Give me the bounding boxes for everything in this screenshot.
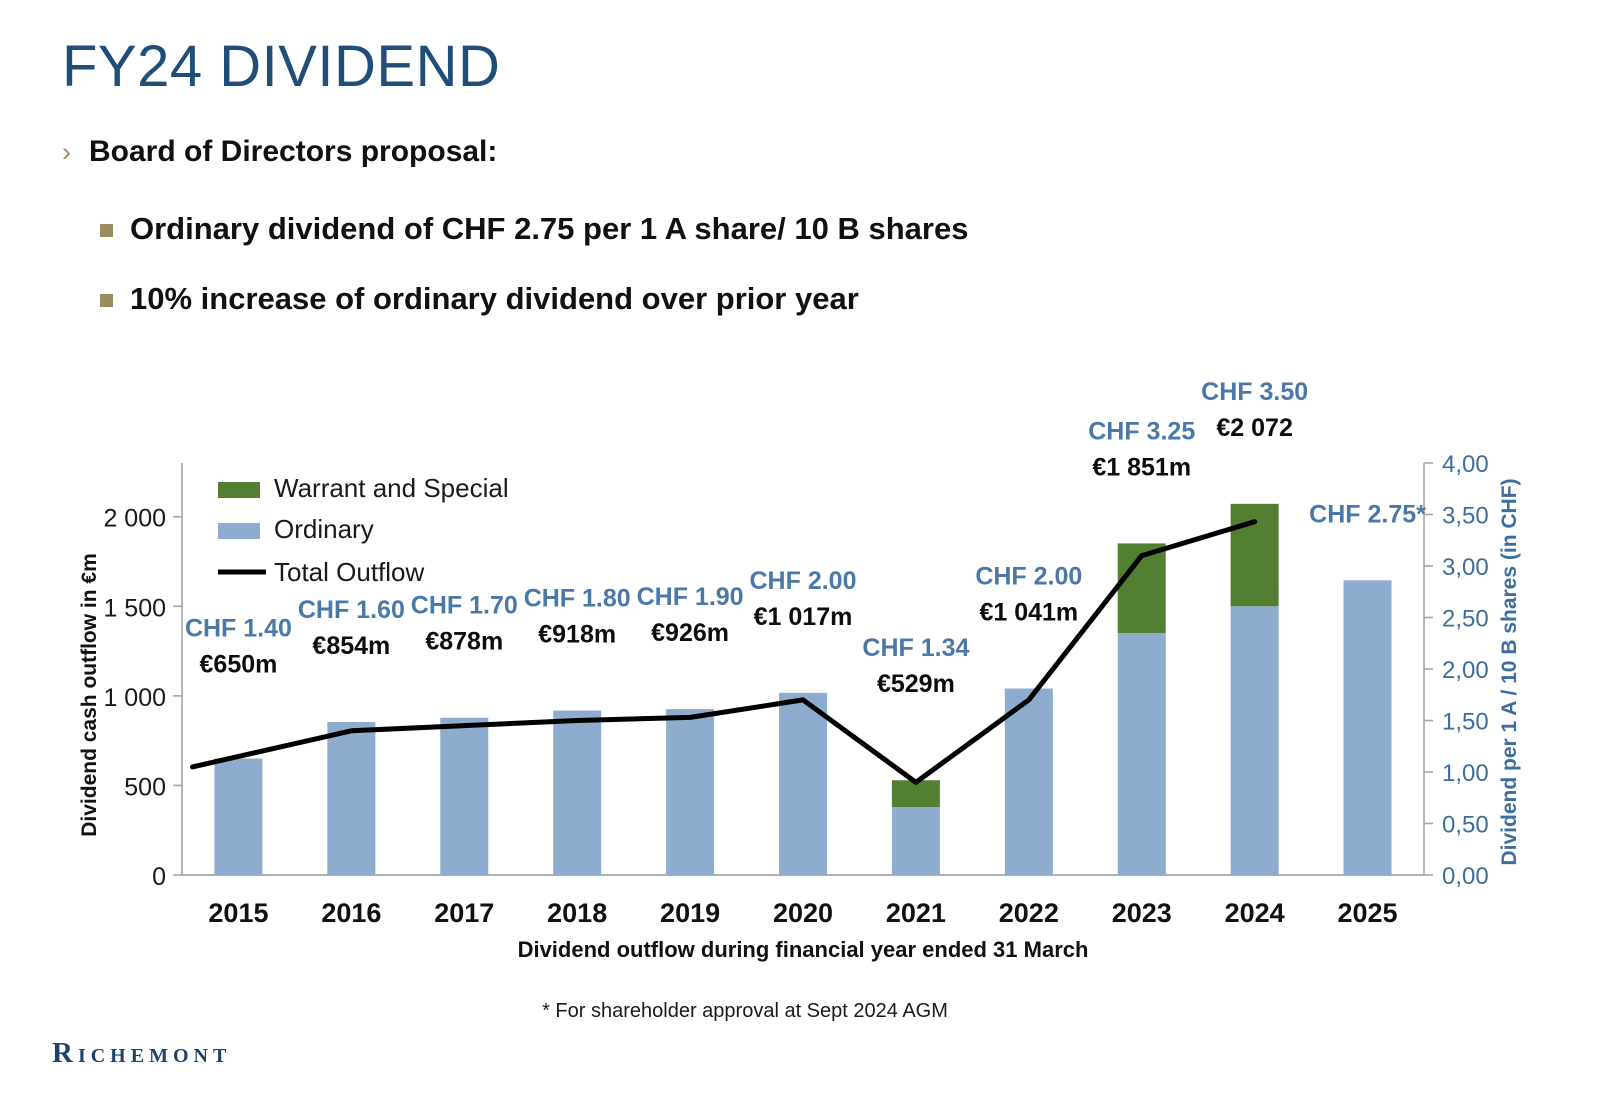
data-label-eur: €918m	[538, 621, 616, 649]
bullet-label: 10% increase of ordinary dividend over p…	[130, 281, 859, 317]
square-bullet-icon	[100, 224, 113, 237]
y2-axis-tick-label: 3,50	[1442, 503, 1489, 530]
x-axis-title: Dividend outflow during financial year e…	[518, 937, 1089, 962]
chevron-right-icon: ›	[62, 139, 71, 166]
data-label-eur: €926m	[651, 619, 729, 647]
data-label-chf: CHF 1.70	[411, 592, 518, 620]
legend-label-total-outflow: Total Outflow	[274, 557, 425, 587]
bar-ordinary	[892, 807, 940, 875]
data-label-chf: CHF 2.75*	[1309, 500, 1426, 528]
data-label-chf: CHF 1.60	[298, 596, 405, 624]
bar-ordinary	[214, 759, 262, 875]
y-axis-tick-label: 2 000	[103, 505, 166, 533]
y2-axis-tick-label: 0,50	[1442, 812, 1489, 839]
richemont-logo: Richemont	[52, 1037, 231, 1070]
y2-axis-tick-label: 0,00	[1442, 863, 1489, 890]
data-label-chf: CHF 1.80	[524, 585, 631, 613]
y-axis-tick-label: 0	[152, 863, 166, 891]
data-label-eur: €854m	[312, 632, 390, 660]
bullet-item-proposal: › Board of Directors proposal:	[62, 135, 497, 169]
x-axis-category-label: 2017	[434, 898, 494, 928]
plot-group: 05001 0001 5002 0000,000,501,001,502,002…	[78, 378, 1521, 962]
x-axis-category-label: 2018	[547, 898, 607, 928]
y2-axis-tick-label: 4,00	[1442, 451, 1489, 478]
chart-footnote: * For shareholder approval at Sept 2024 …	[0, 1000, 1490, 1023]
y-axis-tick-label: 1 500	[103, 594, 166, 622]
data-label-eur: €1 851m	[1092, 453, 1191, 481]
data-label-chf: CHF 1.90	[637, 583, 744, 611]
bar-ordinary	[1118, 633, 1166, 875]
legend-label-ordinary: Ordinary	[274, 514, 374, 544]
x-axis-category-label: 2022	[999, 898, 1059, 928]
legend-swatch-ordinary	[218, 523, 260, 539]
data-label-chf: CHF 1.40	[185, 615, 292, 643]
x-axis-category-label: 2020	[773, 898, 833, 928]
legend-swatch-warrant	[218, 482, 260, 498]
x-axis-category-label: 2023	[1112, 898, 1172, 928]
data-label-eur: €1 041m	[979, 599, 1078, 627]
y2-axis-tick-label: 1,50	[1442, 709, 1489, 736]
x-axis-category-label: 2016	[321, 898, 381, 928]
bar-warrant-special	[1231, 504, 1279, 606]
x-axis-category-label: 2015	[208, 898, 268, 928]
bar-ordinary	[327, 722, 375, 875]
x-axis-category-label: 2021	[886, 898, 946, 928]
y2-axis-tick-label: 3,00	[1442, 554, 1489, 581]
data-label-eur: €878m	[425, 628, 503, 656]
y-axis-tick-label: 1 000	[103, 684, 166, 712]
x-axis-category-label: 2019	[660, 898, 720, 928]
bar-ordinary	[1344, 580, 1392, 875]
bar-ordinary	[1231, 606, 1279, 875]
y2-axis-tick-label: 2,00	[1442, 657, 1489, 684]
data-label-eur: €529m	[877, 670, 955, 698]
y2-axis-tick-label: 1,00	[1442, 760, 1489, 787]
bar-ordinary	[553, 711, 601, 875]
bar-warrant-special	[892, 780, 940, 807]
bar-ordinary	[666, 709, 714, 875]
bullet-label: Ordinary dividend of CHF 2.75 per 1 A sh…	[130, 211, 968, 247]
data-label-chf: CHF 2.00	[750, 567, 857, 595]
data-label-eur: €650m	[200, 651, 278, 679]
y2-axis-title: Dividend per 1 A / 10 B shares (in CHF)	[1498, 478, 1521, 865]
page-title: FY24 DIVIDEND	[62, 33, 500, 100]
y2-axis-tick-label: 2,50	[1442, 606, 1489, 633]
square-bullet-icon	[100, 294, 113, 307]
bar-ordinary	[1005, 689, 1053, 875]
x-axis-category-label: 2025	[1338, 898, 1398, 928]
data-label-chf: CHF 3.50	[1201, 378, 1308, 406]
bar-ordinary	[779, 693, 827, 875]
data-label-eur: €1 017m	[754, 603, 853, 631]
data-label-chf: CHF 1.34	[862, 634, 969, 662]
bar-ordinary	[440, 718, 488, 875]
bar-warrant-special	[1118, 543, 1166, 633]
bullet-label: Board of Directors proposal:	[89, 135, 497, 169]
data-label-chf: CHF 2.00	[975, 563, 1082, 591]
data-label-eur: €2 072	[1216, 414, 1292, 442]
y-axis-title: Dividend cash outflow in €m	[78, 553, 101, 837]
total-outflow-line	[193, 522, 1255, 783]
x-axis-category-label: 2024	[1225, 898, 1285, 928]
bullet-item-ordinary-dividend: Ordinary dividend of CHF 2.75 per 1 A sh…	[100, 211, 968, 247]
legend-label-warrant: Warrant and Special	[274, 473, 509, 503]
data-label-chf: CHF 3.25	[1088, 417, 1195, 445]
y-axis-tick-label: 500	[124, 773, 166, 801]
bullet-item-increase: 10% increase of ordinary dividend over p…	[100, 281, 859, 317]
